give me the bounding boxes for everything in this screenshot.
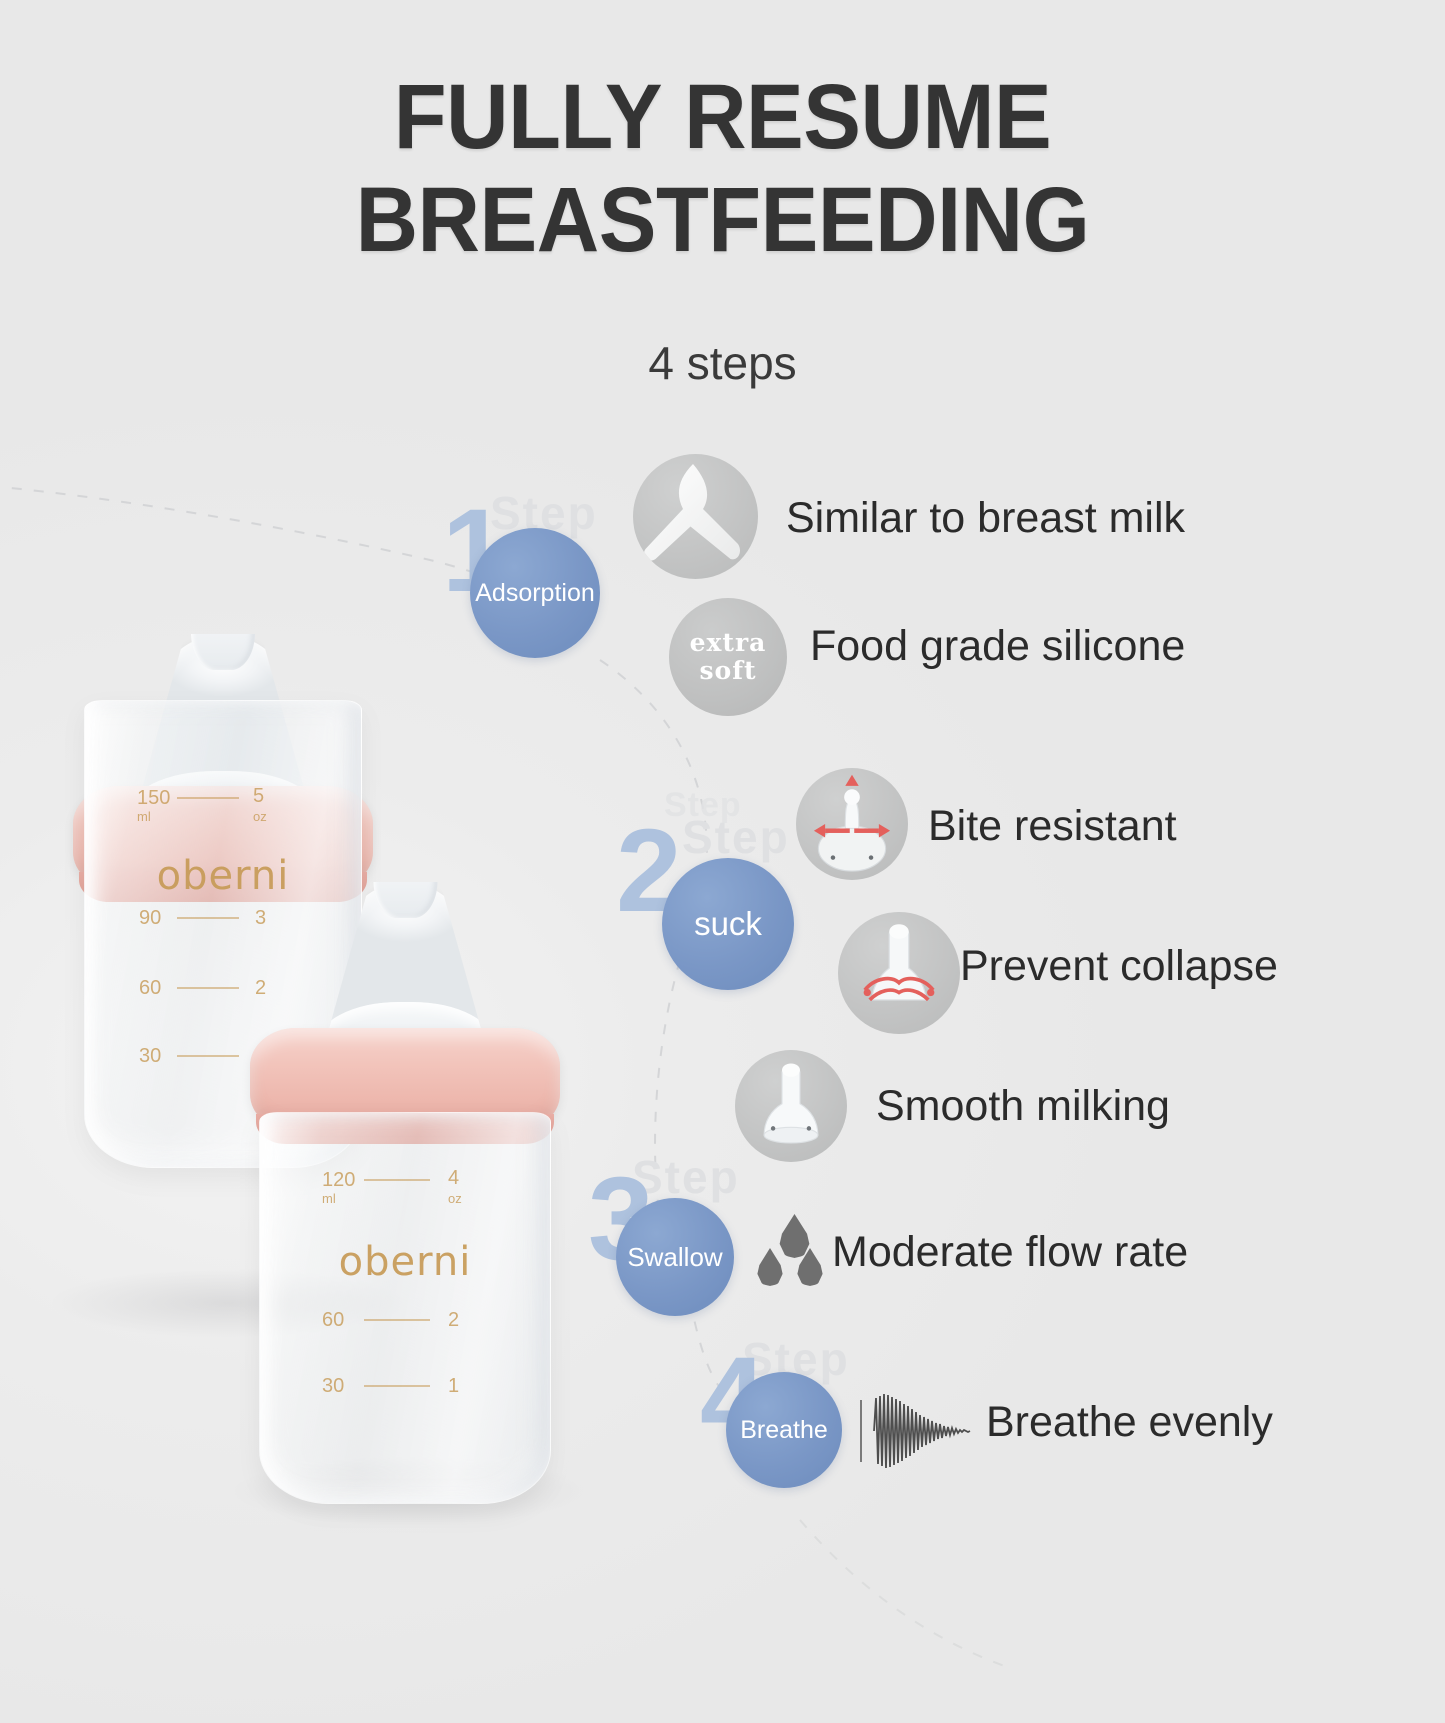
step-2-label-circle[interactable]: suck	[662, 858, 794, 990]
scale-mark-4: 4	[448, 1167, 459, 1190]
step-4-label-circle[interactable]: Breathe	[726, 1372, 842, 1488]
feature-label-prevent-collapse: Prevent collapse	[960, 942, 1278, 991]
feature-label-bite-resistant: Bite resistant	[928, 802, 1177, 851]
product-bottles-group: oberni 150 ml 5 oz 90 3 60 2 30 1 oberni	[0, 520, 660, 1580]
scale-mark-30: 30	[139, 1045, 161, 1068]
prevent-collapse-glyph	[838, 912, 960, 1034]
scale-mark-2: 2	[448, 1309, 459, 1332]
nipple-cross-cut-icon	[633, 454, 758, 579]
scale-unit-ml: ml	[137, 809, 151, 824]
step-3-label-text: Swallow	[627, 1242, 722, 1273]
scale-tick	[177, 1055, 239, 1057]
step-2-watermark: Step	[682, 810, 790, 864]
bite-resistant-nipple-icon	[796, 768, 908, 880]
scale-mark-5: 5	[253, 785, 264, 808]
feature-label-moderate-flow-rate: Moderate flow rate	[832, 1228, 1188, 1277]
scale-tick	[364, 1179, 430, 1181]
small-bottle: oberni 120 ml 4 oz 60 2 30 1	[240, 820, 570, 1520]
scale-mark-90: 90	[139, 907, 161, 930]
scale-mark-30: 30	[322, 1375, 344, 1398]
water-drop	[756, 1248, 784, 1286]
scale-mark-150: 150	[137, 787, 170, 810]
water-drop	[778, 1214, 811, 1258]
scale-tick	[364, 1385, 430, 1387]
waveform-divider	[860, 1400, 862, 1462]
scale-mark-1: 1	[448, 1375, 459, 1398]
feature-label-food-grade-silicone: Food grade silicone	[810, 622, 1185, 671]
bottle-brand-label: oberni	[339, 1239, 472, 1285]
page-title-line-2: BREASTFEEDING	[43, 169, 1401, 272]
feature-label-smooth-milking: Smooth milking	[876, 1082, 1170, 1131]
scale-tick	[364, 1319, 430, 1321]
nipple-cross-cut-glyph	[633, 454, 758, 579]
page-subtitle: 4 steps	[0, 336, 1445, 390]
extra-soft-badge-icon: extra soft	[669, 598, 787, 716]
waveform-glyph	[872, 1386, 972, 1476]
prevent-collapse-nipple-icon	[838, 912, 960, 1034]
step-1-label-circle[interactable]: Adsorption	[470, 528, 600, 658]
scale-tick	[177, 797, 239, 799]
water-drops-icon	[756, 1214, 842, 1298]
nipple-tip	[373, 826, 437, 918]
smooth-milking-glyph	[735, 1050, 847, 1162]
breathing-waveform-icon	[860, 1386, 972, 1476]
feature-label-breathe-evenly: Breathe evenly	[986, 1398, 1273, 1447]
scale-mark-120: 120	[322, 1169, 355, 1192]
smooth-milking-nipple-icon	[735, 1050, 847, 1162]
step-1-label-text: Adsorption	[475, 579, 595, 608]
scale-mark-60: 60	[139, 977, 161, 1000]
feature-label-similar-to-breast-milk: Similar to breast milk	[786, 494, 1185, 543]
scale-mark-60: 60	[322, 1309, 344, 1332]
step-2-label-text: suck	[694, 905, 762, 943]
step-3-label-circle[interactable]: Swallow	[616, 1198, 734, 1316]
bottle-glass-body: oberni 120 ml 4 oz 60 2 30 1	[259, 1112, 551, 1504]
bite-resistant-glyph	[796, 768, 908, 880]
extra-soft-line-2: soft	[699, 657, 756, 685]
scale-unit-oz: oz	[448, 1191, 462, 1206]
scale-unit-ml: ml	[322, 1191, 336, 1206]
nipple-tip	[191, 578, 255, 670]
scale-tick	[177, 987, 239, 989]
scale-tick	[177, 917, 239, 919]
page-title: FULLY RESUME BREASTFEEDING	[43, 66, 1401, 272]
step-4-label-text: Breathe	[740, 1416, 828, 1445]
extra-soft-line-1: extra	[690, 629, 767, 657]
page-title-line-1: FULLY RESUME	[43, 66, 1401, 169]
